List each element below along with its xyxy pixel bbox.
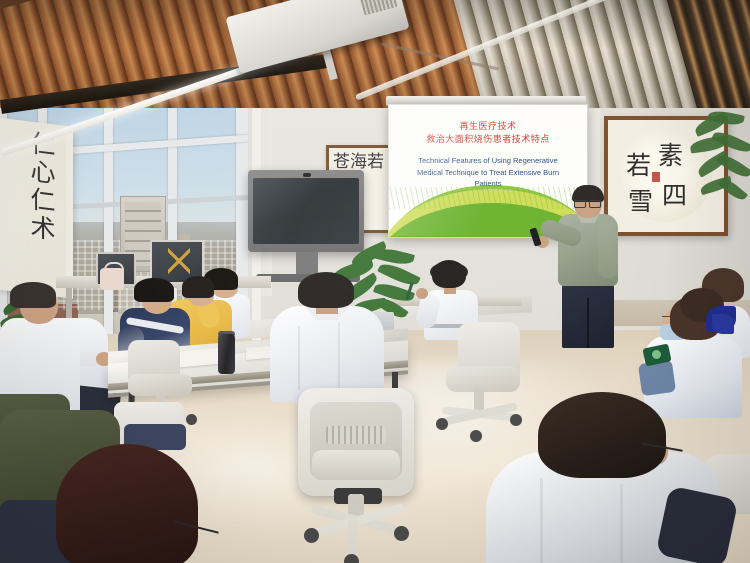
hair — [134, 278, 174, 302]
monitor-decoration — [168, 248, 190, 274]
foreground-person-left — [30, 430, 270, 563]
slide-title-cn-line1: 再生医疗技术 — [389, 121, 587, 134]
calligraphy-char-3: 若 — [626, 146, 651, 182]
calligraphy-char-2: 四 — [662, 176, 687, 212]
photo-scene: 仁心仁术 苍海若云 素 四 若 雪 — [0, 0, 750, 563]
presenter — [546, 188, 636, 348]
chair-caster — [436, 418, 448, 430]
trouser-crease — [587, 298, 589, 348]
flat-panel-glare — [253, 178, 359, 244]
chair-seat — [128, 374, 192, 396]
audience-center-back — [268, 272, 388, 402]
coat-fold — [298, 326, 300, 390]
dark-garment — [655, 485, 738, 563]
foreground-person-right — [500, 392, 750, 563]
slide-title-en-line2: Medical Technique to Treat Extensive Bur… — [397, 167, 579, 179]
potted-plant-right — [690, 112, 750, 232]
panel-camera-icon — [303, 173, 311, 177]
phone-camera-icon — [652, 350, 661, 359]
hair — [10, 282, 56, 308]
chair-caster — [304, 528, 319, 543]
chair-base — [348, 518, 358, 558]
hair — [538, 392, 666, 478]
slide-title-english: Technical Features of Using Regenerative… — [397, 155, 579, 190]
office-chair-foreground — [290, 388, 422, 563]
thermos-bottle — [218, 334, 235, 374]
coat-fold — [620, 484, 623, 563]
calligraphy-char-1: 素 — [658, 136, 683, 172]
chair-caster — [394, 526, 409, 541]
seal-stamp-icon — [652, 172, 660, 182]
hair-curly — [432, 260, 466, 288]
glasses-icon — [574, 199, 601, 206]
hair — [56, 444, 198, 563]
coat-fold — [338, 322, 340, 390]
jeans — [638, 360, 676, 396]
chair-vent-detail — [326, 426, 386, 444]
slide-title-en-line1: Technical Features of Using Regenerative — [397, 155, 579, 167]
presenter-right-arm — [598, 222, 618, 278]
slide-title-chinese: 再生医疗技术 救治大面积烧伤患者技术特点 — [389, 121, 587, 147]
chair-caster — [186, 414, 197, 425]
chair-caster — [344, 554, 359, 563]
chair-caster — [470, 430, 482, 442]
hair — [298, 272, 354, 308]
blue-hair-bow-loop — [712, 314, 734, 334]
chair-lumbar-support — [312, 450, 400, 480]
hand — [416, 288, 428, 299]
slide-title-cn-line2: 救治大面积烧伤患者技术特点 — [389, 134, 587, 147]
coat-fold — [540, 478, 543, 563]
